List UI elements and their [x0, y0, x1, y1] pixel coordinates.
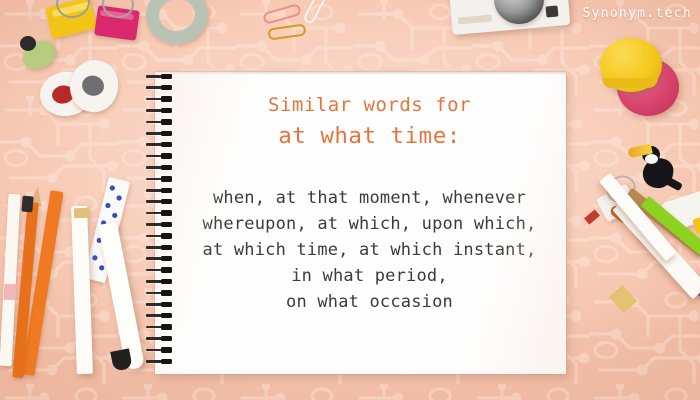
pencil-white-pink-band — [4, 284, 17, 301]
spiral-ring — [146, 142, 178, 147]
camera-flash — [546, 5, 559, 17]
spiral-ring — [146, 177, 178, 182]
page-title-prefix: Similar words for — [185, 90, 554, 120]
spiral-ring — [146, 154, 178, 159]
eraser-gray-core — [80, 73, 107, 98]
page-top-edge — [155, 72, 566, 75]
page-headword: at what time: — [185, 120, 554, 152]
spiral-ring — [146, 245, 178, 250]
spiral-ring — [146, 348, 178, 353]
spiral-ring — [146, 268, 178, 273]
pencil-orange-2-eraser — [21, 196, 33, 213]
spiral-ring — [146, 325, 178, 330]
spiral-ring — [146, 359, 178, 364]
page-content: Similar words for at what time: when, at… — [185, 90, 554, 315]
spiral-ring — [146, 85, 178, 90]
spiral-ring — [146, 74, 178, 79]
spiral-ring — [146, 165, 178, 170]
spiral-ring — [146, 188, 178, 193]
spiral-ring — [146, 256, 178, 261]
spiral-ring — [146, 336, 178, 341]
synonym-line: whereupon, at which, upon which, — [185, 211, 554, 237]
notebook-page: Similar words for at what time: when, at… — [155, 72, 566, 374]
spiral-ring — [146, 302, 178, 307]
spiral-ring — [146, 199, 178, 204]
pen-white-capped-gold-ring — [74, 208, 90, 219]
spiral-ring — [146, 120, 178, 125]
synonym-line: on what occasion — [185, 289, 554, 315]
spiral-ring — [146, 313, 178, 318]
spiral-ring — [146, 279, 178, 284]
spiral-ring — [146, 131, 178, 136]
synonyms-block: when, at that moment, whenever whereupon… — [185, 185, 554, 315]
site-watermark: Synonym.tech — [582, 6, 692, 21]
spiral-ring — [146, 234, 178, 239]
synonym-line: in what period, — [185, 263, 554, 289]
synonym-line: at which time, at which instant, — [185, 237, 554, 263]
screenshot-root: Similar words for at what time: when, at… — [0, 0, 700, 400]
bird-figurine-head — [20, 36, 36, 51]
synonym-line: when, at that moment, whenever — [185, 185, 554, 211]
toucan-chest — [645, 154, 658, 164]
spiral-ring — [146, 211, 178, 216]
spiral-ring — [146, 222, 178, 227]
spiral-ring — [146, 97, 178, 102]
spiral-binding — [146, 74, 180, 374]
spiral-ring — [146, 291, 178, 296]
macaron-yellow-filling — [602, 78, 658, 88]
spiral-ring — [146, 108, 178, 113]
